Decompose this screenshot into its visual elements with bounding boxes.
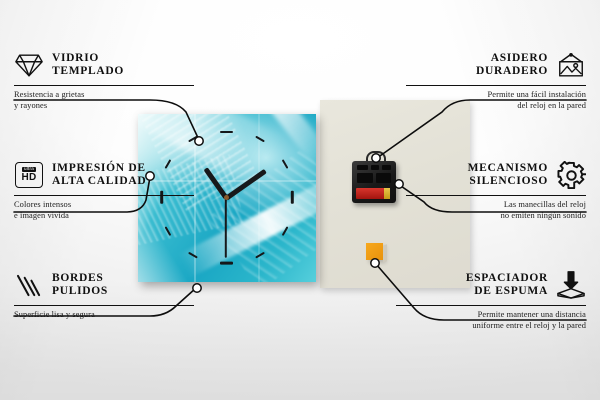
feature-espaciador-de-espuma: ESPACIADOR DE ESPUMA Permite mantener un… bbox=[396, 270, 586, 331]
feature-title-line2: ALTA CALIDAD bbox=[52, 175, 146, 188]
divider bbox=[14, 305, 194, 306]
feature-title-line2: DURADERO bbox=[476, 65, 548, 78]
feature-header: ultra HD IMPRESIÓN DE ALTA CALIDAD bbox=[14, 160, 194, 190]
node-bordes-pulidos bbox=[193, 284, 201, 292]
feature-description: Permite mantener una distancia uniforme … bbox=[396, 310, 586, 331]
feature-title-line1: MECANISMO bbox=[468, 162, 548, 175]
feature-vidrio-templado: VIDRIO TEMPLADO Resistencia a grietas y … bbox=[14, 50, 194, 111]
feature-title: VIDRIO TEMPLADO bbox=[52, 52, 124, 78]
divider bbox=[406, 85, 586, 86]
wall-frame-icon bbox=[556, 50, 586, 80]
feature-desc-line1: Superficie lisa y segura bbox=[14, 310, 194, 320]
feature-desc-line2: no emiten ningún sonido bbox=[406, 211, 586, 221]
hd-badge-hd-label: HD bbox=[21, 173, 36, 183]
feature-header: BORDES PULIDOS bbox=[14, 270, 194, 300]
feature-title-line1: VIDRIO bbox=[52, 52, 124, 65]
feature-title-line2: DE ESPUMA bbox=[466, 285, 548, 298]
feature-title: IMPRESIÓN DE ALTA CALIDAD bbox=[52, 162, 146, 188]
feature-header: VIDRIO TEMPLADO bbox=[14, 50, 194, 80]
feature-title: MECANISMO SILENCIOSO bbox=[468, 162, 548, 188]
feature-desc-line1: Colores intensos bbox=[14, 200, 194, 210]
infographic-canvas: VIDRIO TEMPLADO Resistencia a grietas y … bbox=[0, 0, 600, 400]
feature-title: ESPACIADOR DE ESPUMA bbox=[466, 272, 548, 298]
feature-desc-line1: Resistencia a grietas bbox=[14, 90, 194, 100]
feature-description: Colores intensos e imagen vívida bbox=[14, 200, 194, 221]
feature-desc-line2: del reloj en la pared bbox=[406, 101, 586, 111]
hd-badge: ultra HD bbox=[15, 162, 43, 188]
feature-description: Superficie lisa y segura bbox=[14, 310, 194, 320]
feature-impresion-alta-calidad: ultra HD IMPRESIÓN DE ALTA CALIDAD Color… bbox=[14, 160, 194, 221]
feature-header: ESPACIADOR DE ESPUMA bbox=[396, 270, 586, 300]
polished-edges-icon bbox=[14, 270, 44, 300]
node-vidrio-templado bbox=[195, 137, 203, 145]
feature-title-line1: ASIDERO bbox=[476, 52, 548, 65]
node-espaciador bbox=[371, 259, 379, 267]
gear-icon bbox=[556, 160, 586, 190]
divider bbox=[396, 305, 586, 306]
divider bbox=[14, 195, 194, 196]
feature-desc-line2: y rayones bbox=[14, 101, 194, 111]
node-asidero bbox=[372, 154, 380, 162]
feature-asidero-duradero: ASIDERO DURADERO Permite una fácil insta… bbox=[406, 50, 586, 111]
feature-desc-line1: Las manecillas del reloj bbox=[406, 200, 586, 210]
feature-title-line2: PULIDOS bbox=[52, 285, 108, 298]
feature-title-line1: ESPACIADOR bbox=[466, 272, 548, 285]
feature-title-line2: SILENCIOSO bbox=[468, 175, 548, 188]
node-mecanismo bbox=[395, 180, 403, 188]
feature-desc-line2: e imagen vívida bbox=[14, 211, 194, 221]
feature-header: MECANISMO SILENCIOSO bbox=[406, 160, 586, 190]
divider bbox=[14, 85, 194, 86]
feature-description: Las manecillas del reloj no emiten ningú… bbox=[406, 200, 586, 221]
feature-title-line1: IMPRESIÓN DE bbox=[52, 162, 146, 175]
feature-bordes-pulidos: BORDES PULIDOS Superficie lisa y segura bbox=[14, 270, 194, 321]
divider bbox=[406, 195, 586, 196]
feature-title-line2: TEMPLADO bbox=[52, 65, 124, 78]
feature-desc-line2: uniforme entre el reloj y la pared bbox=[396, 321, 586, 331]
down-arrow-pad-icon bbox=[556, 270, 586, 300]
ultra-hd-icon: ultra HD bbox=[14, 160, 44, 190]
feature-title: BORDES PULIDOS bbox=[52, 272, 108, 298]
feature-header: ASIDERO DURADERO bbox=[406, 50, 586, 80]
feature-desc-line1: Permite una fácil instalación bbox=[406, 90, 586, 100]
feature-desc-line1: Permite mantener una distancia bbox=[396, 310, 586, 320]
feature-mecanismo-silencioso: MECANISMO SILENCIOSO Las manecillas del … bbox=[406, 160, 586, 221]
feature-description: Permite una fácil instalación del reloj … bbox=[406, 90, 586, 111]
feature-title-line1: BORDES bbox=[52, 272, 108, 285]
feature-description: Resistencia a grietas y rayones bbox=[14, 90, 194, 111]
diamond-icon bbox=[14, 50, 44, 80]
feature-title: ASIDERO DURADERO bbox=[476, 52, 548, 78]
